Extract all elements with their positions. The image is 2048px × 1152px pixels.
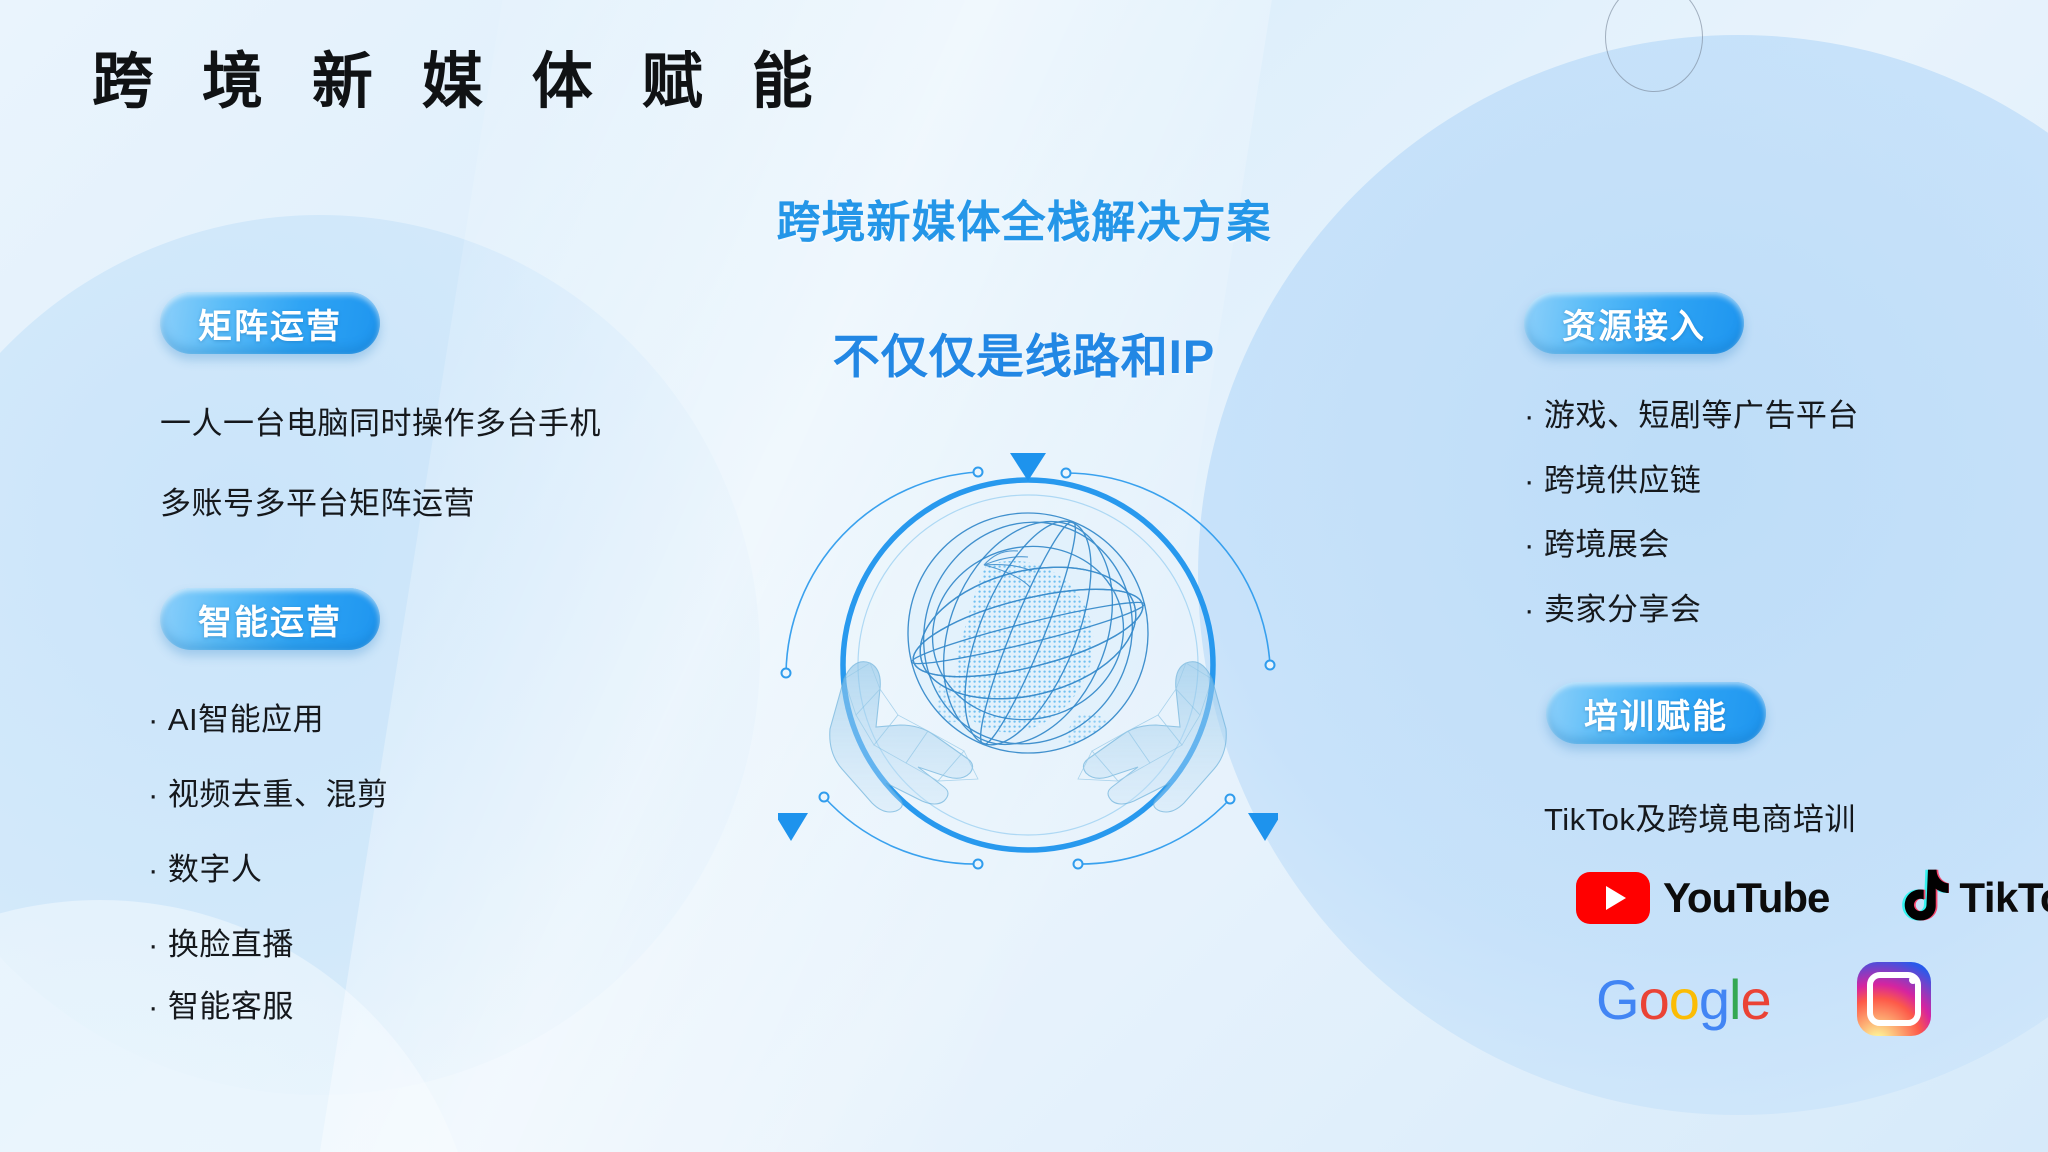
center-heading-primary: 跨境新媒体全栈解决方案	[574, 186, 1474, 250]
bullet: ·	[148, 989, 159, 1024]
instagram-logo[interactable]	[1857, 962, 1931, 1036]
youtube-wordmark: YouTube	[1663, 874, 1829, 922]
youtube-logo[interactable]: YouTube	[1576, 872, 1829, 924]
right-item-1-0: TikTok及跨境电商培训	[1544, 794, 1856, 839]
text: 跨境展会	[1544, 527, 1670, 562]
bullet: ·	[148, 927, 159, 962]
center-heading-secondary: 不仅仅是线路和IP	[574, 318, 1474, 387]
instagram-dot-icon	[1909, 976, 1917, 984]
right-item-0-2: ·跨境展会	[1524, 519, 1670, 564]
bullet: ·	[148, 852, 159, 887]
text: 游戏、短剧等广告平台	[1544, 398, 1859, 433]
bullet: ·	[1524, 398, 1535, 433]
logo-row-secondary: Google	[1596, 962, 1931, 1036]
right-item-0-1: ·跨境供应链	[1524, 455, 1701, 500]
bullet: ·	[1524, 463, 1535, 498]
badge-resource-access[interactable]: 资源接入	[1524, 292, 1744, 354]
slide-canvas: 跨 境 新 媒 体 赋 能 跨境新媒体全栈解决方案 不仅仅是线路和IP	[0, 0, 2048, 1152]
left-item-1-0: ·AI智能应用	[148, 694, 324, 739]
left-item-0-0: 一人一台电脑同时操作多台手机	[160, 398, 601, 443]
text: 卖家分享会	[1544, 592, 1702, 627]
left-item-1-1: ·视频去重、混剪	[148, 769, 388, 814]
text: 多账号多平台矩阵运营	[160, 486, 475, 521]
badge-matrix-operations[interactable]: 矩阵运营	[160, 292, 380, 354]
left-item-1-4: ·智能客服	[148, 981, 294, 1026]
left-item-1-3: ·换脸直播	[148, 919, 294, 964]
text: 数字人	[168, 852, 263, 887]
bullet: ·	[148, 777, 159, 812]
decorative-circle-outline	[1605, 0, 1703, 92]
google-logo[interactable]: Google	[1596, 967, 1771, 1032]
text: 视频去重、混剪	[168, 777, 389, 812]
right-item-0-3: ·卖家分享会	[1524, 584, 1701, 629]
tiktok-wordmark: TikTok	[1959, 874, 2048, 922]
bullet: ·	[1524, 527, 1535, 562]
bullet: ·	[1524, 592, 1535, 627]
globe-in-hands-graphic	[778, 415, 1278, 915]
text: TikTok及跨境电商培训	[1544, 802, 1856, 837]
text: 一人一台电脑同时操作多台手机	[160, 406, 601, 441]
badge-training-empowerment[interactable]: 培训赋能	[1546, 682, 1766, 744]
text: 智能客服	[168, 989, 294, 1024]
text: 换脸直播	[168, 927, 294, 962]
page-title: 跨 境 新 媒 体 赋 能	[92, 48, 829, 115]
text: AI智能应用	[168, 702, 324, 737]
tiktok-note-icon	[1897, 868, 1949, 928]
tiktok-logo[interactable]: TikTok	[1897, 868, 2048, 928]
badge-smart-operations[interactable]: 智能运营	[160, 588, 380, 650]
text: 跨境供应链	[1544, 463, 1702, 498]
right-item-0-0: ·游戏、短剧等广告平台	[1524, 390, 1859, 435]
left-item-0-1: 多账号多平台矩阵运营	[160, 478, 475, 523]
logo-row-primary: YouTube TikTok	[1576, 868, 2048, 928]
left-item-1-2: ·数字人	[148, 844, 262, 889]
youtube-play-icon	[1576, 872, 1650, 924]
bullet: ·	[148, 702, 159, 737]
